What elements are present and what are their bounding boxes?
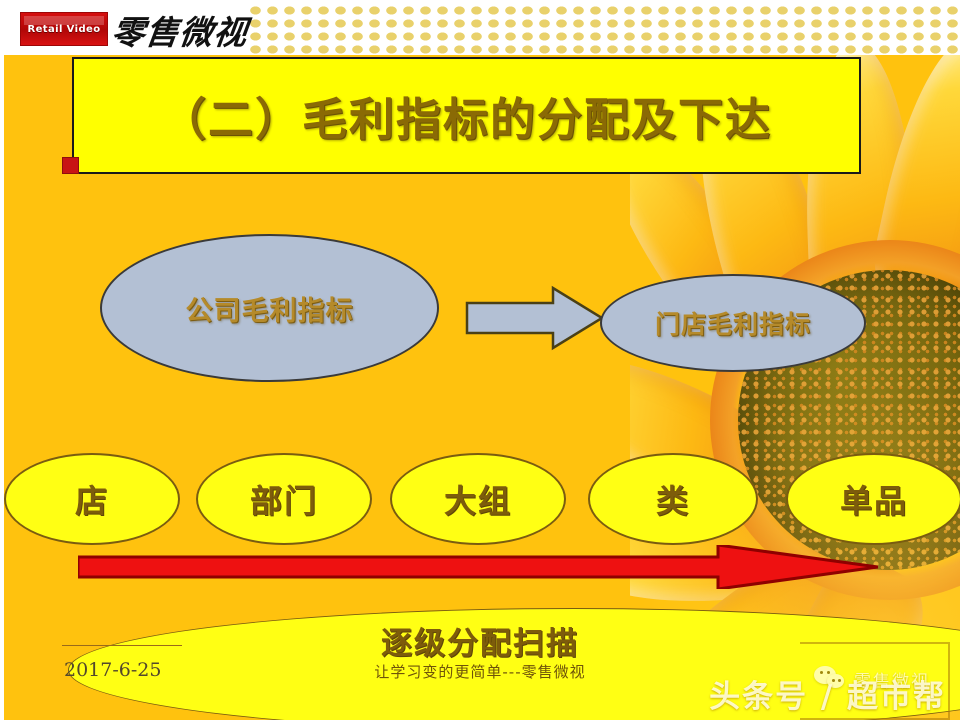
retail-video-badge-label: Retail Video: [28, 24, 101, 35]
chain-node-department-label: 部门: [250, 476, 318, 522]
node-store-gross-margin: 门店毛利指标: [600, 274, 866, 372]
slide-canvas: Retail Video 零售微视 （二）毛利指标的分配及下达 公司毛利指标 门…: [0, 0, 960, 720]
brand-name-cn: 零售微视: [109, 6, 251, 54]
red-right-arrow-icon: [78, 545, 878, 589]
chain-node-group-label: 大组: [444, 476, 512, 522]
node-company-gross-margin-label: 公司毛利指标: [186, 289, 354, 328]
retail-video-badge: Retail Video: [20, 12, 108, 46]
left-edge-margin: [0, 55, 4, 720]
chain-node-store: 店: [4, 453, 180, 545]
node-store-gross-margin-label: 门店毛利指标: [655, 305, 811, 341]
polka-dot-pattern: [247, 2, 960, 54]
chain-node-category: 类: [588, 453, 758, 545]
grey-right-arrow-icon: [465, 285, 605, 351]
chain-node-sku: 单品: [786, 453, 960, 545]
brand-logo: Retail Video 零售微视: [20, 8, 250, 50]
node-company-gross-margin: 公司毛利指标: [100, 234, 439, 382]
chain-node-group: 大组: [390, 453, 566, 545]
slide-title-box: （二）毛利指标的分配及下达: [72, 57, 861, 174]
chain-node-department: 部门: [196, 453, 372, 545]
chain-node-category-label: 类: [656, 476, 690, 522]
slide-date: 2017-6-25: [64, 659, 161, 681]
header-band: Retail Video 零售微视: [0, 0, 960, 55]
title-accent-square: [62, 157, 79, 174]
chain-node-store-label: 店: [75, 476, 109, 522]
chain-node-sku-label: 单品: [840, 476, 908, 522]
slide-title-text: （二）毛利指标的分配及下达: [161, 83, 772, 148]
watermark-headline-label: 头条号 / 超市帮: [709, 671, 946, 716]
